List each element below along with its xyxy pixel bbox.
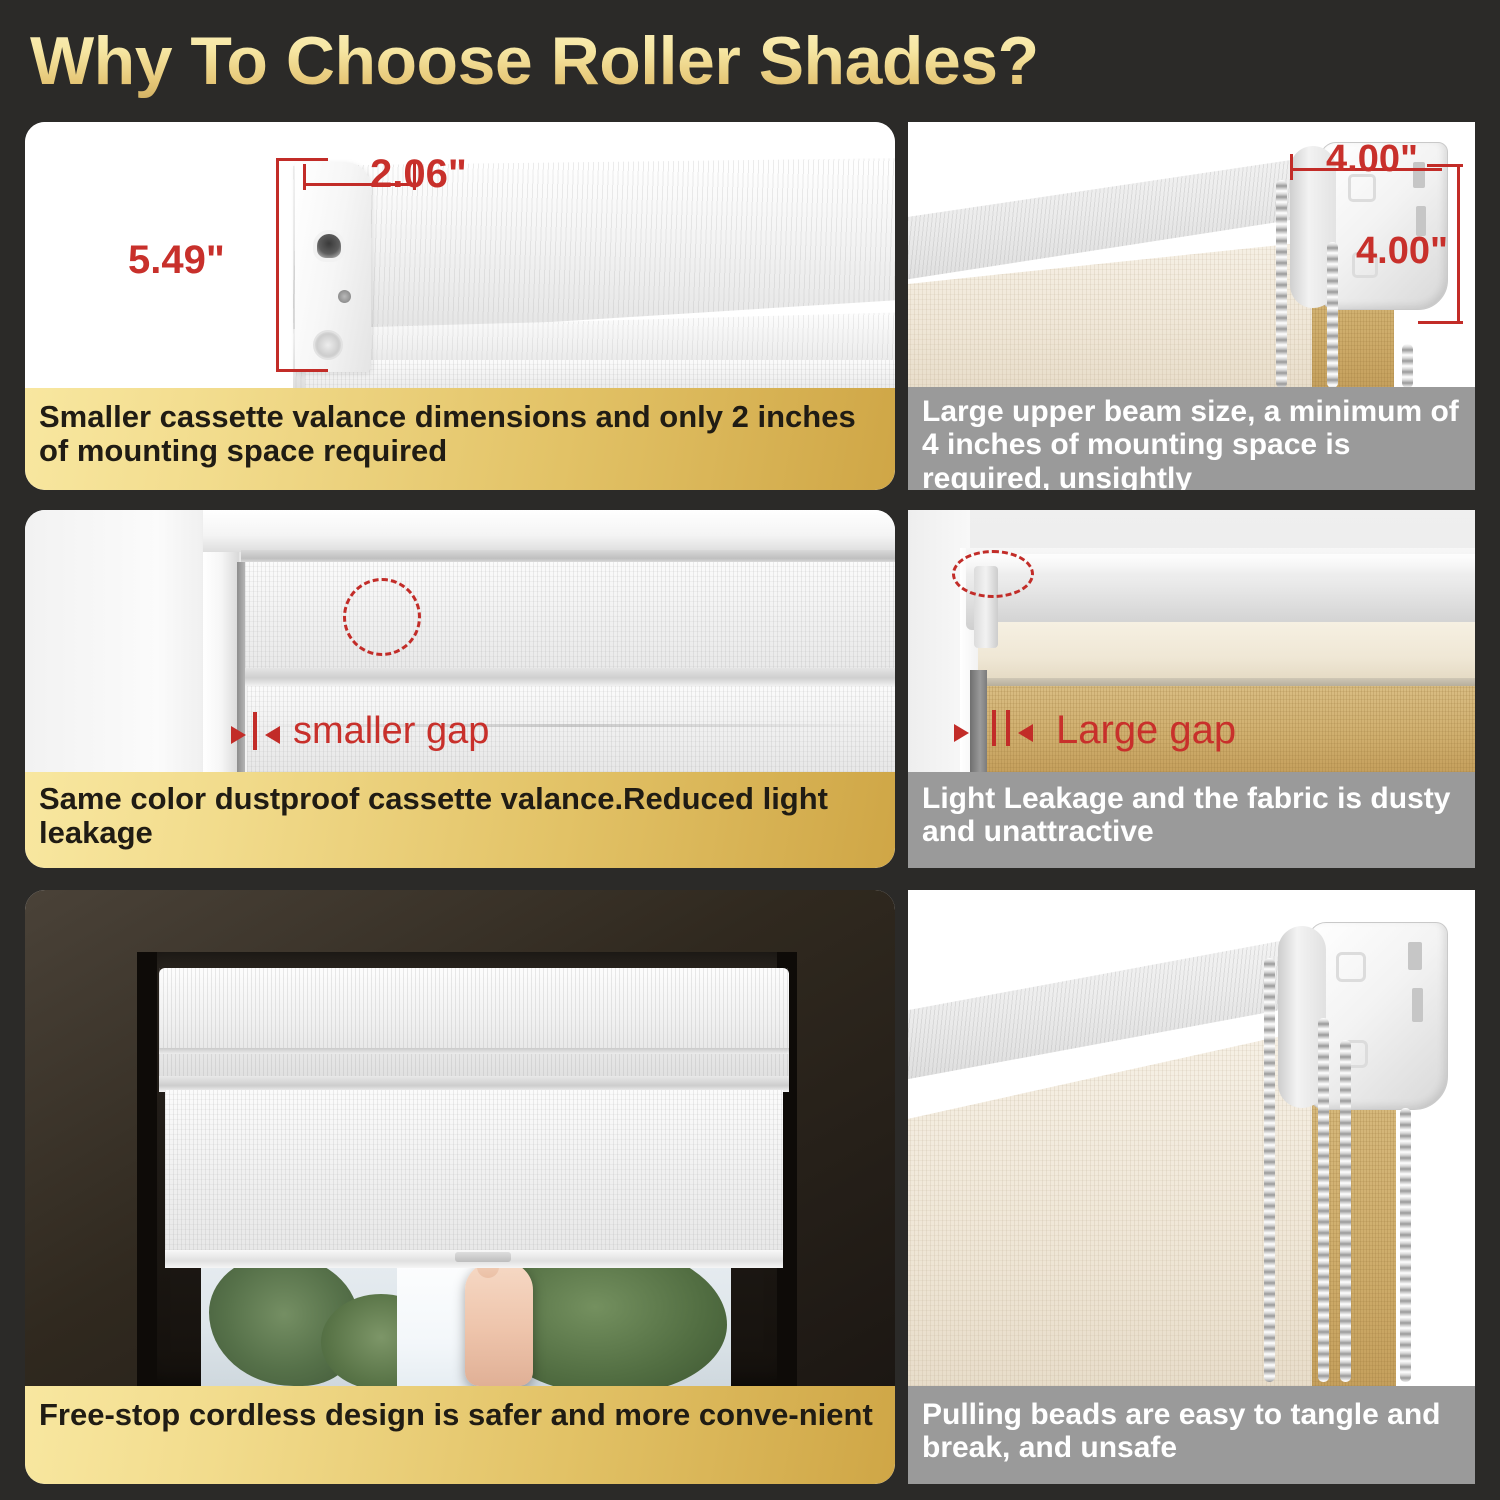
band-shadow-line bbox=[978, 678, 1475, 686]
height-dim-line bbox=[1457, 164, 1460, 324]
panel-good-smaller-gap: smaller gap Same color dustproof cassett… bbox=[25, 510, 895, 868]
panel-caption: Light Leakage and the fabric is dusty an… bbox=[908, 772, 1475, 868]
shade-fabric bbox=[305, 360, 895, 388]
width-dimension-label: 4.00" bbox=[1326, 138, 1418, 181]
height-dimension-label: 5.49" bbox=[128, 238, 225, 283]
valance-face bbox=[241, 562, 895, 682]
bead-chain-4 bbox=[1400, 1108, 1411, 1382]
bead-chain-1 bbox=[1264, 958, 1275, 1382]
bead-chain-2 bbox=[1318, 1018, 1329, 1382]
gap-arrow-right-icon bbox=[265, 726, 280, 744]
valance-groove bbox=[159, 1048, 789, 1054]
panel-good-cordless: Free-stop cordless design is safer and m… bbox=[25, 890, 895, 1484]
gap-arrow-left-icon bbox=[954, 724, 969, 742]
panel-caption: Large upper beam size, a minimum of 4 in… bbox=[908, 387, 1475, 490]
tube-highlight bbox=[966, 554, 1475, 574]
panel-photo bbox=[25, 890, 895, 1386]
panel-good-cassette-size: 2.06" 5.49" Smaller cassette valance dim… bbox=[25, 122, 895, 490]
panel-caption: Same color dustproof cassette valance.Re… bbox=[25, 772, 895, 868]
bracket-slot-top bbox=[1408, 942, 1422, 970]
panel-caption: Smaller cassette valance dimensions and … bbox=[25, 388, 895, 490]
bracket-slot-bottom bbox=[1412, 988, 1423, 1022]
height-dim-line bbox=[276, 158, 279, 372]
gap-marker-line-2 bbox=[1006, 710, 1010, 746]
panel-photo: 4.00" 4.00" bbox=[908, 122, 1475, 387]
panel-photo: 2.06" 5.49" bbox=[25, 122, 895, 388]
detail-highlight-circle bbox=[952, 550, 1034, 598]
shade-fabric bbox=[908, 1028, 1318, 1386]
height-dim-tick-top bbox=[1427, 164, 1463, 167]
gap-arrow-right-icon bbox=[1018, 724, 1033, 742]
wall bbox=[25, 510, 215, 772]
end-cap-clutch-icon bbox=[313, 230, 345, 262]
window-jamb-left bbox=[137, 952, 157, 1386]
panel-bad-beam-size: 4.00" 4.00" Large upper beam size, a min… bbox=[908, 122, 1475, 490]
panel-bad-bead-chain: Pulling beads are easy to tangle and bre… bbox=[908, 890, 1475, 1484]
height-dim-tick-bottom bbox=[276, 369, 328, 372]
infographic-root: Why To Choose Roller Shades? 2.06" bbox=[0, 0, 1500, 1500]
width-dim-tick-left bbox=[1290, 154, 1293, 180]
gap-marker-line-1 bbox=[992, 710, 996, 746]
panel-caption: Pulling beads are easy to tangle and bre… bbox=[908, 1386, 1475, 1484]
detail-highlight-circle bbox=[343, 578, 421, 656]
panel-bad-large-gap: Large gap Light Leakage and the fabric i… bbox=[908, 510, 1475, 868]
panel-photo bbox=[908, 890, 1475, 1386]
window-frame-top bbox=[203, 510, 895, 552]
bead-chain-3 bbox=[1402, 344, 1413, 387]
valance-lip bbox=[241, 668, 895, 686]
bottom-rail-handle bbox=[455, 1252, 511, 1262]
page-title: Why To Choose Roller Shades? bbox=[30, 18, 1230, 104]
bead-chain-2 bbox=[1327, 242, 1338, 387]
end-cap-bottom-screw-icon bbox=[313, 330, 343, 360]
height-dimension-label: 4.00" bbox=[1356, 230, 1448, 273]
gap-label: smaller gap bbox=[293, 710, 489, 753]
width-dim-tick-left bbox=[303, 164, 306, 190]
bead-chain-1 bbox=[1276, 180, 1287, 387]
panel-photo: Large gap bbox=[908, 510, 1475, 772]
height-dim-tick-bottom bbox=[1418, 321, 1463, 324]
roller-bracket bbox=[1308, 922, 1448, 1110]
end-cap-screw-icon bbox=[338, 290, 351, 303]
fabric-cream-band bbox=[978, 622, 1475, 682]
shade-fabric bbox=[165, 1090, 783, 1260]
width-dimension-label: 2.06" bbox=[370, 152, 467, 197]
bracket-logo-icon bbox=[1336, 952, 1366, 982]
height-dim-tick-top bbox=[276, 158, 328, 161]
panel-caption: Free-stop cordless design is safer and m… bbox=[25, 1386, 895, 1484]
hand bbox=[465, 1262, 533, 1386]
gap-arrow-left-icon bbox=[231, 726, 246, 744]
side-gap-strip bbox=[970, 670, 987, 772]
panel-photo: smaller gap bbox=[25, 510, 895, 772]
gap-marker-line bbox=[253, 712, 257, 750]
gap-label: Large gap bbox=[1056, 708, 1236, 753]
bead-chain-3 bbox=[1340, 1040, 1351, 1382]
valance-texture bbox=[159, 968, 789, 1090]
